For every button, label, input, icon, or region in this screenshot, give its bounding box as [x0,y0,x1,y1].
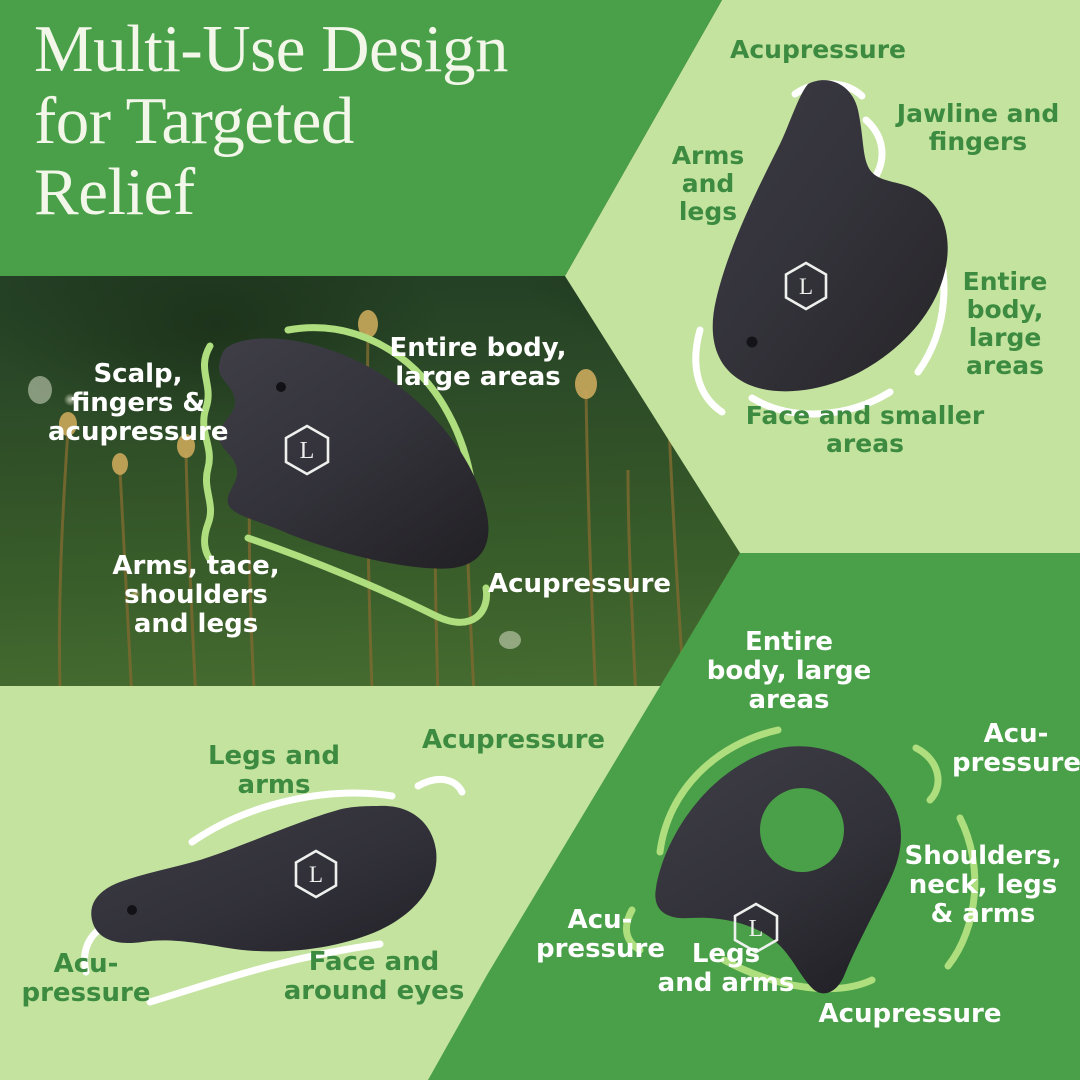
label-tr-face-smaller-areas: Face and smaller areas [740,402,990,458]
label-mp-arms-face-shoulders: Arms, tace, shoulders and legs [48,552,344,639]
contour-gua-sha-tool: L [80,790,460,970]
label-br-acupressure-right: Acu- pressure [952,720,1080,778]
page-title-line-1: Multi-Use Design [34,14,654,86]
label-br-shoulders-neck-legs-arms: Shoulders, neck, legs & arms [890,842,1076,929]
brand-logo-letter: L [300,438,315,464]
label-tr-entire-body: Entire body, large areas [930,268,1080,380]
label-bl-acupressure-bottom: Acu- pressure [16,950,156,1008]
page-title-line-2: for Targeted [34,86,654,158]
infographic-canvas: Multi-Use Design for Targeted Relief [0,0,1080,1080]
label-bl-face-around-eyes: Face and around eyes [274,948,474,1006]
page-title-line-3: Relief [34,157,654,229]
page-title: Multi-Use Design for Targeted Relief [34,14,654,229]
label-br-entire-body: Entire body, large areas [700,628,878,715]
label-tr-acupressure: Acupressure [718,36,918,64]
label-bl-acupressure-top: Acupressure [422,726,652,755]
label-br-acupressure-left: Acu- pressure [536,906,664,964]
label-mp-scalp-fingers: Scalp, fingers & acupressure [48,360,228,447]
label-bl-legs-arms: Legs and arms [196,742,352,800]
brand-logo-letter: L [799,274,813,299]
label-tr-jawline-fingers: Jawline and fingers [878,100,1078,156]
label-mp-acupressure: Acupressure [488,570,728,599]
label-br-acupressure-bottom: Acupressure [800,1000,1020,1029]
label-mp-entire-body: Entire body, large areas [376,334,580,392]
label-br-legs-and-arms: Legs and arms [656,940,796,998]
brand-logo-letter: L [309,862,323,887]
label-tr-arms-legs: Arms and legs [648,142,768,226]
